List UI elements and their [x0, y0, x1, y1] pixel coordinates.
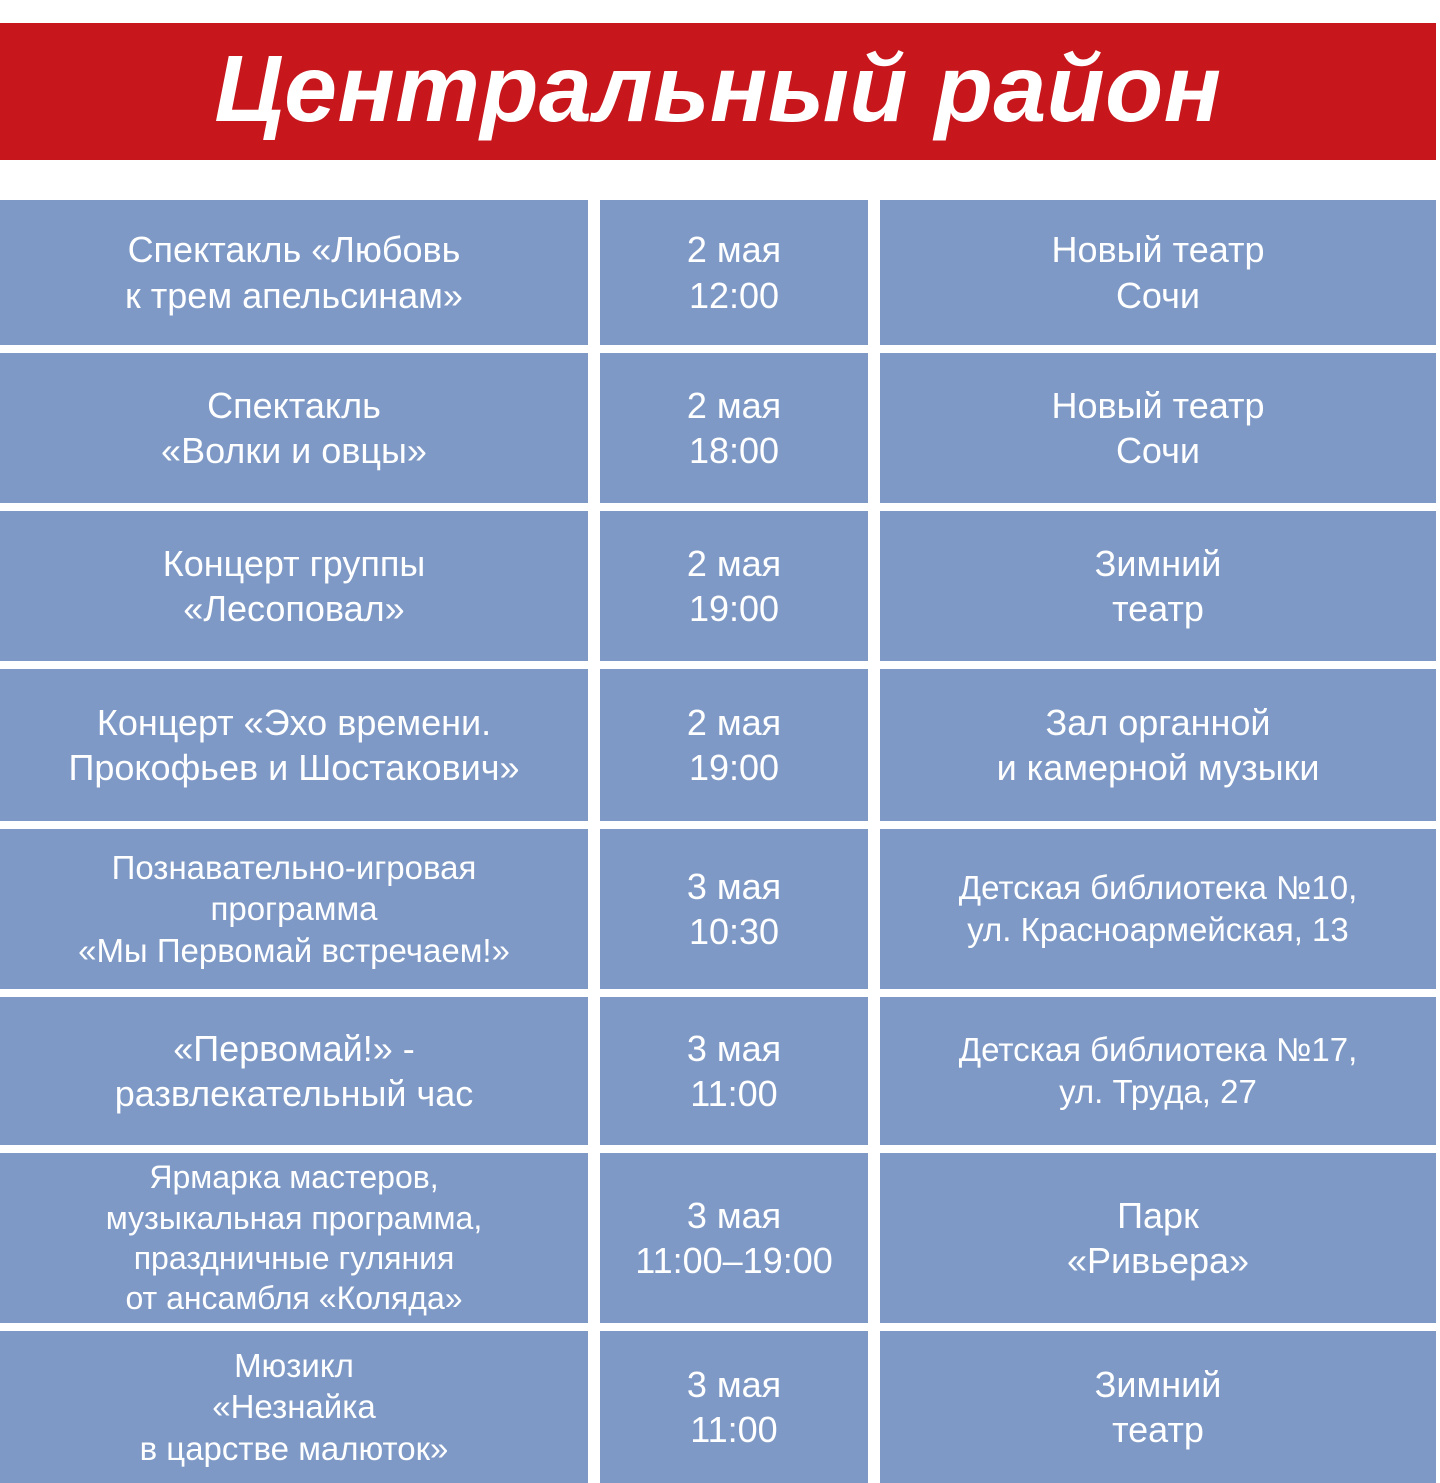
event-name-cell: Мюзикл «Незнайка в царстве малюток» [0, 1331, 588, 1483]
event-datetime-cell: 3 мая 11:00 [600, 1331, 868, 1483]
event-venue-cell: Зимний театр [880, 511, 1436, 661]
table-row: Концерт группы «Лесоповал» 2 мая 19:00 З… [0, 511, 1436, 661]
event-venue-cell: Детская библиотека №10, ул. Красноармейс… [880, 829, 1436, 989]
event-name-cell: Познавательно-игровая программа «Мы Перв… [0, 829, 588, 989]
table-row: Мюзикл «Незнайка в царстве малюток» 3 ма… [0, 1331, 1436, 1483]
event-datetime-cell: 2 мая 19:00 [600, 669, 868, 821]
event-venue-cell: Детская библиотека №17, ул. Труда, 27 [880, 997, 1436, 1145]
event-venue-cell: Парк «Ривьера» [880, 1153, 1436, 1323]
event-name-cell: Ярмарка мастеров, музыкальная программа,… [0, 1153, 588, 1323]
table-row: Спектакль «Любовь к трем апельсинам» 2 м… [0, 200, 1436, 345]
event-name-cell: Спектакль «Волки и овцы» [0, 353, 588, 503]
event-datetime-cell: 3 мая 10:30 [600, 829, 868, 989]
poster-page: Центральный район Спектакль «Любовь к тр… [0, 0, 1440, 1440]
event-venue-cell: Зимний театр [880, 1331, 1436, 1483]
event-name-cell: Концерт «Эхо времени. Прокофьев и Шостак… [0, 669, 588, 821]
table-row: Концерт «Эхо времени. Прокофьев и Шостак… [0, 669, 1436, 821]
event-venue-cell: Новый театр Сочи [880, 353, 1436, 503]
event-name-cell: Концерт группы «Лесоповал» [0, 511, 588, 661]
header-banner: Центральный район [0, 23, 1436, 160]
event-name-cell: Спектакль «Любовь к трем апельсинам» [0, 200, 588, 345]
event-datetime-cell: 2 мая 18:00 [600, 353, 868, 503]
event-name-cell: «Первомай!» - развлекательный час [0, 997, 588, 1145]
event-datetime-cell: 2 мая 19:00 [600, 511, 868, 661]
event-datetime-cell: 3 мая 11:00 [600, 997, 868, 1145]
table-row: Спектакль «Волки и овцы» 2 мая 18:00 Нов… [0, 353, 1436, 503]
event-datetime-cell: 3 мая 11:00–19:00 [600, 1153, 868, 1323]
table-row: Ярмарка мастеров, музыкальная программа,… [0, 1153, 1436, 1323]
page-title: Центральный район [214, 42, 1221, 141]
event-datetime-cell: 2 мая 12:00 [600, 200, 868, 345]
event-venue-cell: Зал органной и камерной музыки [880, 669, 1436, 821]
event-venue-cell: Новый театр Сочи [880, 200, 1436, 345]
table-row: «Первомай!» - развлекательный час 3 мая … [0, 997, 1436, 1145]
schedule-table: Спектакль «Любовь к трем апельсинам» 2 м… [0, 200, 1436, 1483]
table-row: Познавательно-игровая программа «Мы Перв… [0, 829, 1436, 989]
